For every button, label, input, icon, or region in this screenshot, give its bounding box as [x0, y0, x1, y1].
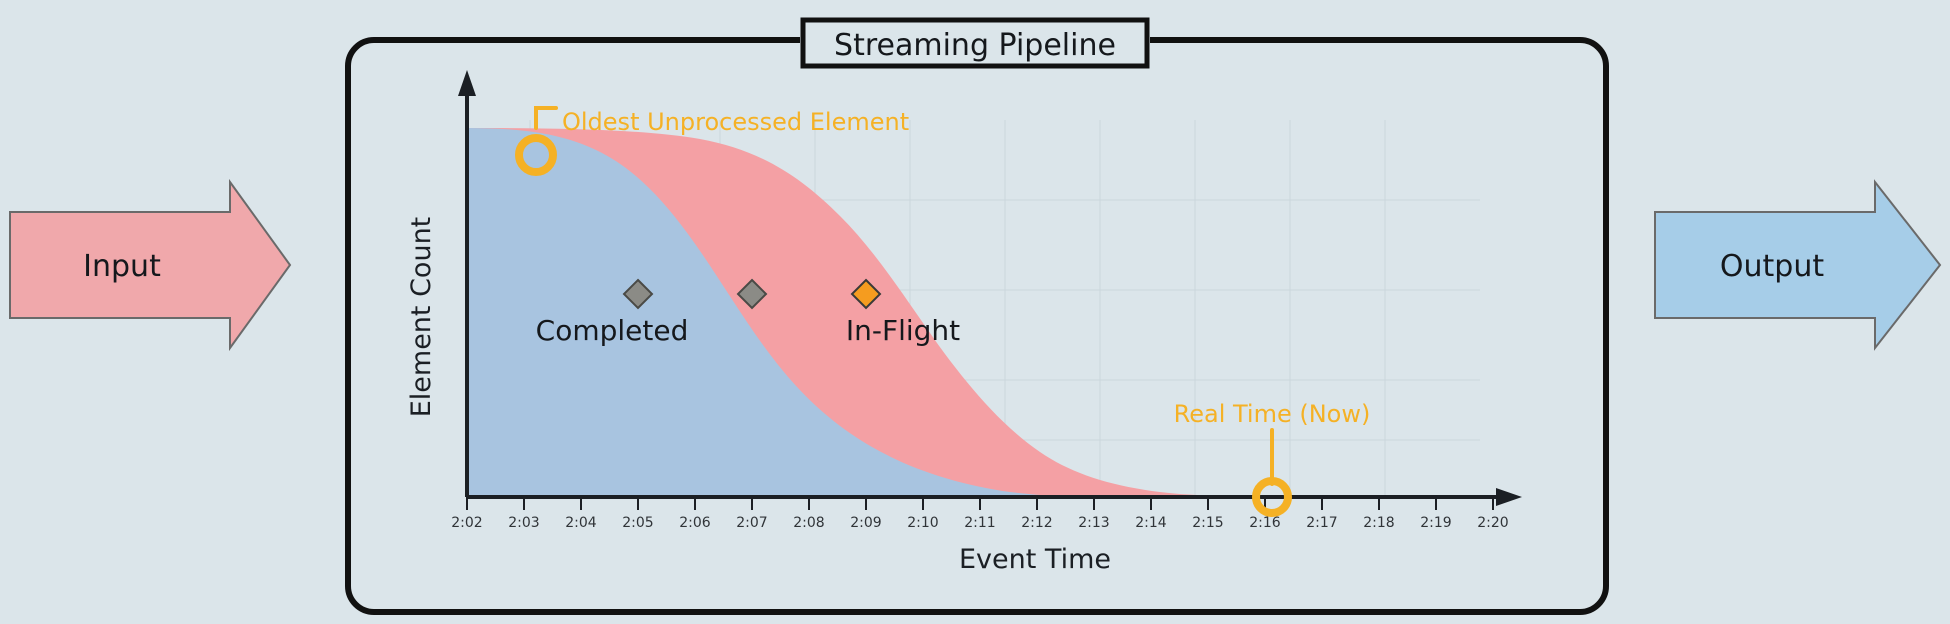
- x-tick-label: 2:10: [907, 515, 938, 531]
- x-tick-label: 2:12: [1021, 515, 1052, 531]
- inflight-label: In-Flight: [846, 314, 960, 347]
- x-tick-label: 2:06: [679, 515, 711, 531]
- output-arrow: Output: [1655, 182, 1940, 348]
- x-tick-label: 2:15: [1192, 515, 1223, 531]
- x-tick-label: 2:05: [622, 515, 653, 531]
- x-tick-label: 2:17: [1306, 515, 1337, 531]
- diagram-canvas: Input Output Streaming Pipeline: [0, 0, 1950, 624]
- real-time-label: Real Time (Now): [1174, 400, 1371, 428]
- output-arrow-label: Output: [1720, 249, 1824, 284]
- x-tick-label: 2:11: [964, 515, 995, 531]
- oldest-unprocessed-label: Oldest Unprocessed Element: [562, 108, 909, 136]
- chart-plot: 2:02 2:03 2:04 2:05 2:06 2:07 2:08 2:09 …: [406, 70, 1522, 575]
- x-tick-label: 2:08: [793, 515, 824, 531]
- x-axis-tick-labels: 2:02 2:03 2:04 2:05 2:06 2:07 2:08 2:09 …: [451, 515, 1508, 531]
- x-tick-label: 2:13: [1078, 515, 1109, 531]
- input-arrow: Input: [10, 182, 290, 348]
- x-axis-arrowhead: [1496, 488, 1522, 506]
- streaming-pipeline-diagram: Input Output Streaming Pipeline: [0, 0, 1950, 624]
- x-tick-label: 2:04: [565, 515, 597, 531]
- y-axis-title: Element Count: [406, 217, 437, 418]
- input-arrow-label: Input: [83, 249, 161, 284]
- x-tick-label: 2:14: [1135, 515, 1167, 531]
- x-axis-title: Event Time: [959, 544, 1111, 575]
- x-tick-label: 2:02: [451, 515, 482, 531]
- oldest-unprocessed-leader-line: [536, 108, 556, 128]
- x-tick-label: 2:09: [850, 515, 881, 531]
- x-tick-label: 2:19: [1420, 515, 1451, 531]
- x-tick-label: 2:16: [1249, 515, 1281, 531]
- x-tick-label: 2:18: [1363, 515, 1394, 531]
- completed-label: Completed: [536, 314, 689, 347]
- x-tick-label: 2:07: [736, 515, 767, 531]
- x-tick-label: 2:03: [508, 515, 539, 531]
- x-tick-label: 2:20: [1477, 515, 1508, 531]
- y-axis-arrowhead: [458, 70, 476, 96]
- pipeline-title-label: Streaming Pipeline: [834, 28, 1116, 63]
